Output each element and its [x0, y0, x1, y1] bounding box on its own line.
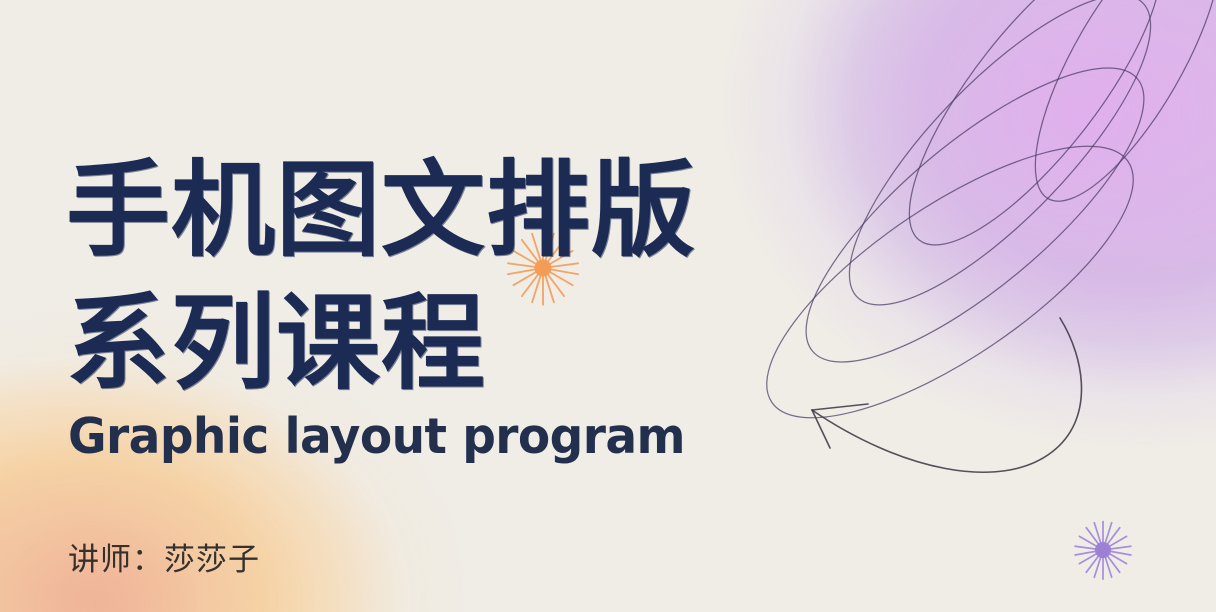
lavender-gradient-highlight [756, 0, 1216, 370]
page-title: 手机图文排版 系列课程 [66, 144, 696, 410]
title-line-2: 系列课程 [66, 277, 696, 410]
title-line-1: 手机图文排版 [66, 144, 696, 277]
instructor-label: 讲师：莎莎子 [68, 534, 260, 579]
subtitle: Graphic layout program [68, 408, 685, 465]
course-poster: 手机图文排版 系列课程 Graphic layout program 讲师：莎莎… [0, 0, 1216, 612]
